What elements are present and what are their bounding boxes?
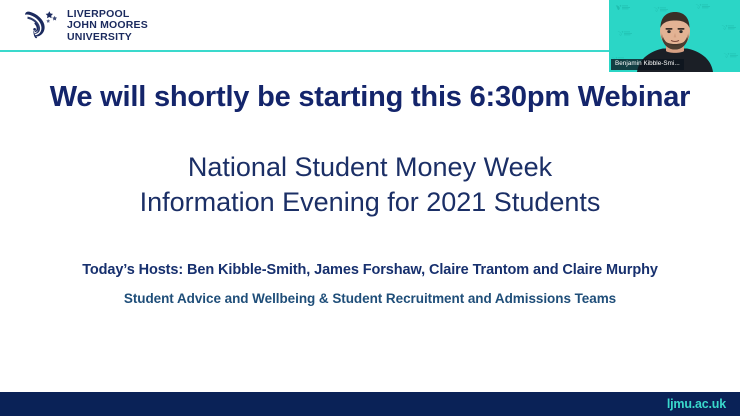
participant-video-tile[interactable]: Benjamin Kibble-Smi... [609,0,740,72]
footer-website-url[interactable]: ljmu.ac.uk [667,397,740,411]
hosts-line: Today’s Hosts: Ben Kibble-Smith, James F… [0,262,740,278]
page-title: We will shortly be starting this 6:30pm … [0,82,740,114]
teams-line: Student Advice and Wellbeing & Student R… [0,291,740,306]
ljmu-logo-text: LIVERPOOL JOHN MOORES UNIVERSITY [67,9,148,43]
logo-line-3: UNIVERSITY [67,32,148,43]
teal-divider [0,50,609,52]
ljmu-logo: LIVERPOOL JOHN MOORES UNIVERSITY [21,9,148,43]
subtitle-line-1: National Student Money Week [0,150,740,185]
subtitle: National Student Money Week Information … [0,150,740,219]
ljmu-bird-logo-icon [21,9,61,43]
participant-name-label: Benjamin Kibble-Smi... [611,59,684,70]
footer-bar: ljmu.ac.uk [0,392,740,416]
presentation-slide: LIVERPOOL JOHN MOORES UNIVERSITY [0,0,740,416]
logo-line-2: JOHN MOORES [67,20,148,31]
subtitle-line-2: Information Evening for 2021 Students [0,185,740,220]
